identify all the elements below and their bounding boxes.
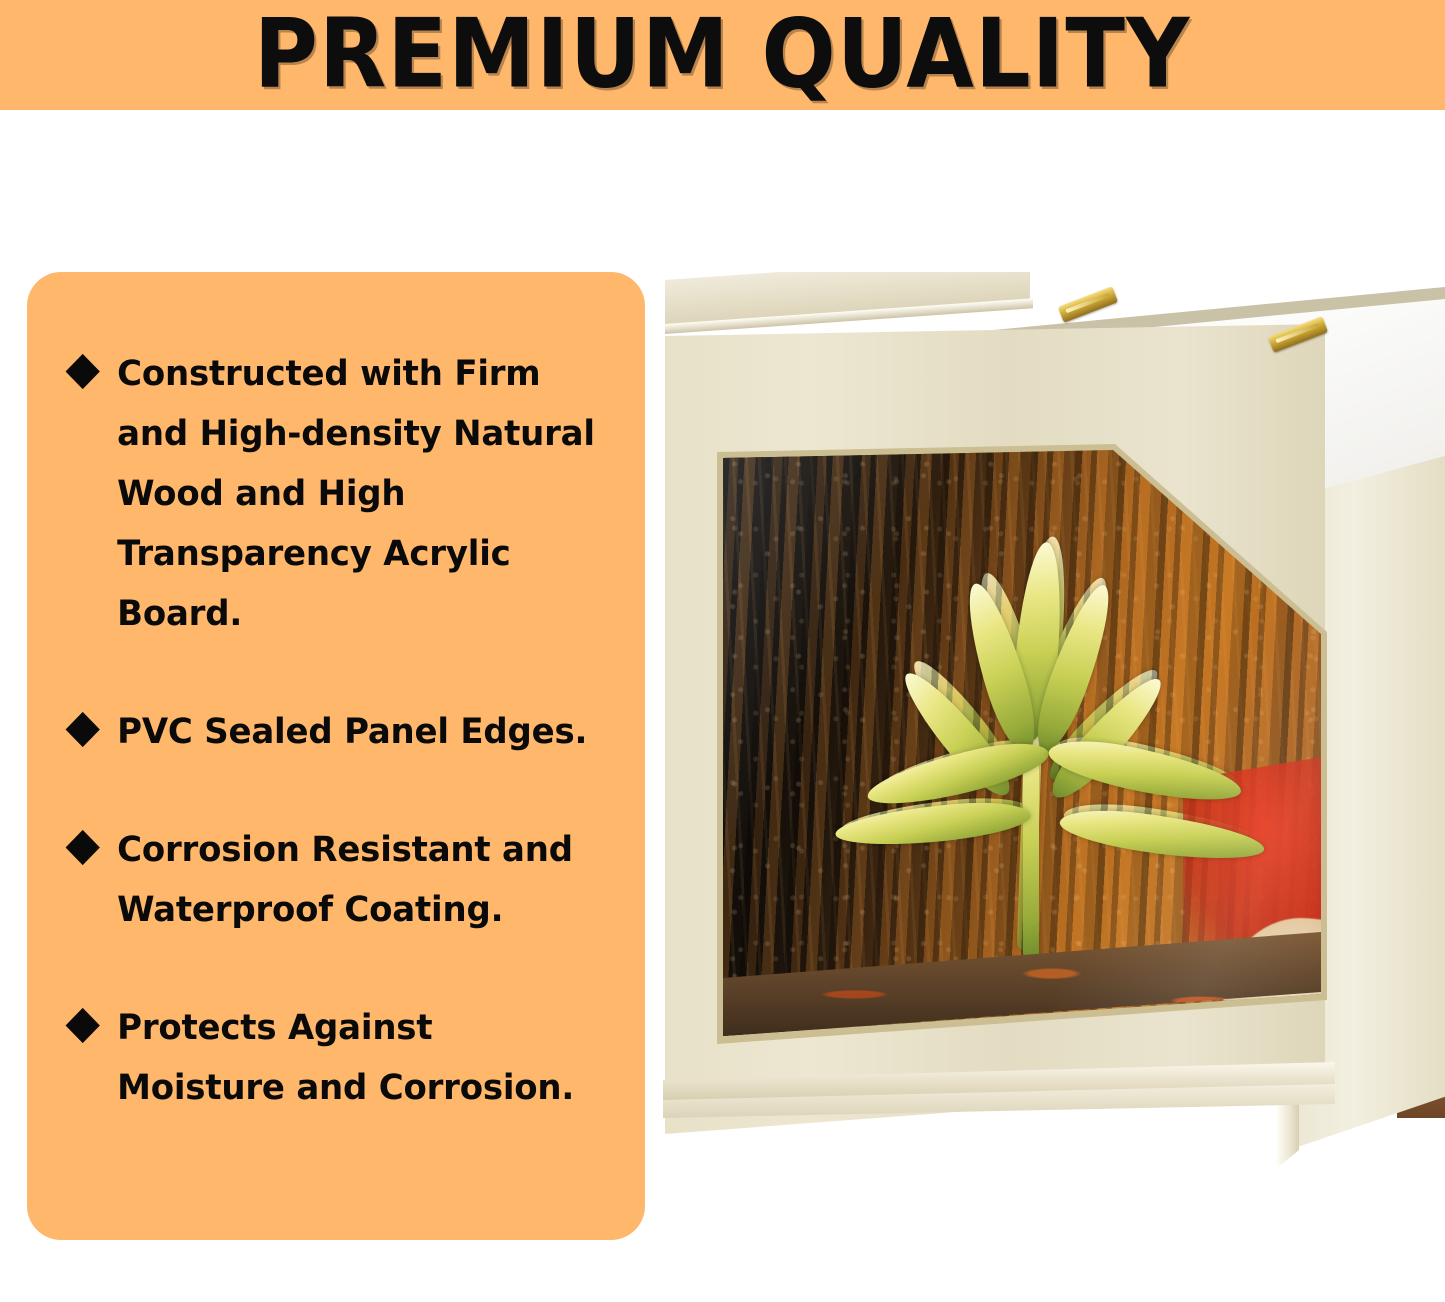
feature-bullet-item: PVC Sealed Panel Edges. — [57, 702, 600, 762]
product-photo — [655, 272, 1445, 1302]
header-banner: PREMIUM QUALITY — [0, 0, 1445, 110]
feature-list-panel: Constructed with Firm and High-density N… — [27, 272, 645, 1240]
feature-bullet-item: Corrosion Resistant and Waterproof Coati… — [57, 820, 600, 940]
diamond-bullet-icon — [66, 1008, 100, 1043]
feature-bullet-text: Protects Against Moisture and Corrosion. — [117, 998, 600, 1118]
feature-bullet-text: PVC Sealed Panel Edges. — [117, 702, 600, 762]
diamond-bullet-icon — [66, 830, 100, 865]
feature-bullet-item: Protects Against Moisture and Corrosion. — [57, 998, 600, 1118]
page-title: PREMIUM QUALITY — [254, 7, 1191, 102]
diamond-bullet-icon — [66, 354, 100, 389]
brass-hinge-icon — [1058, 286, 1118, 323]
feature-bullet-item: Constructed with Firm and High-density N… — [57, 344, 600, 644]
feature-bullet-text: Constructed with Firm and High-density N… — [117, 344, 600, 644]
diamond-bullet-icon — [66, 712, 100, 747]
feature-bullet-text: Corrosion Resistant and Waterproof Coati… — [117, 820, 600, 940]
